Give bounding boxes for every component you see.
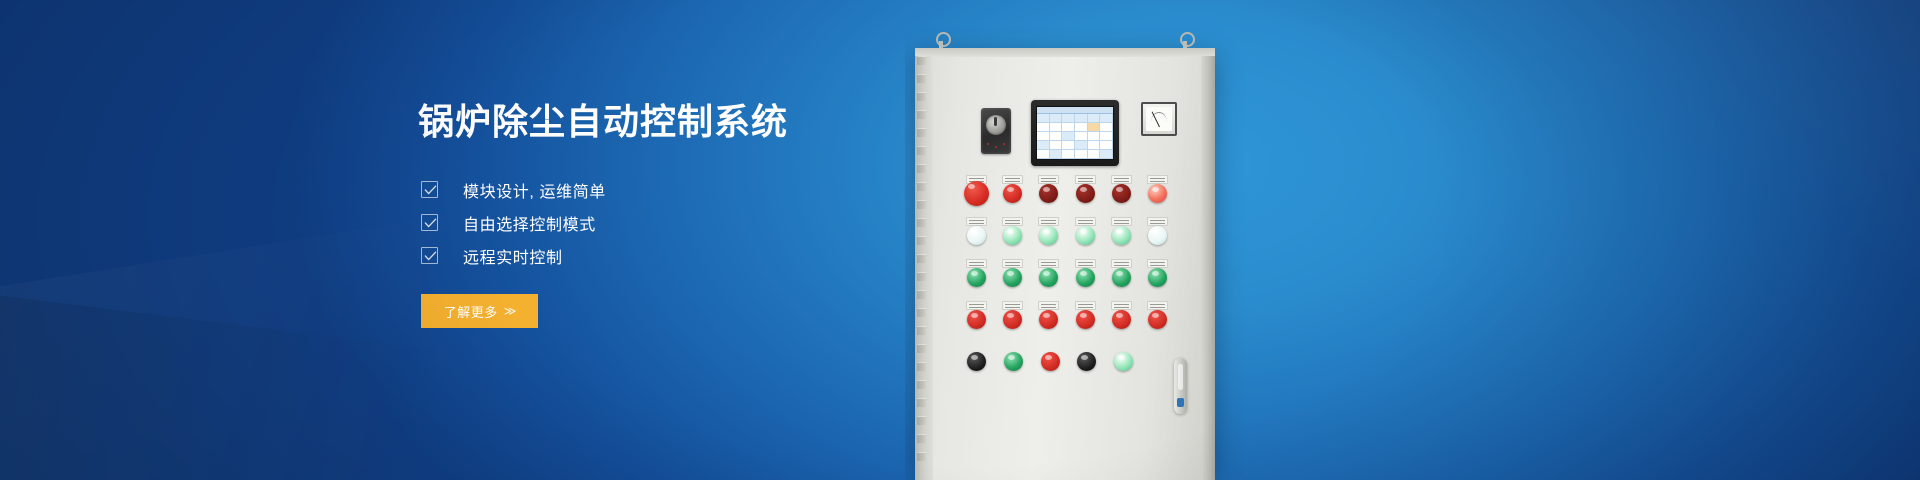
rotary-marker-dot [995, 146, 997, 148]
table-row [1037, 123, 1113, 132]
control-cabinet [915, 56, 1215, 480]
indicator-lamp[interactable] [1039, 268, 1058, 287]
control-cabinet-photo [905, 0, 1920, 480]
checkbox-icon [421, 214, 438, 231]
rotary-marker-dot [987, 143, 989, 145]
table-row [1037, 132, 1113, 141]
indicator-lamp[interactable] [967, 310, 986, 329]
meter-face [1146, 107, 1172, 131]
learn-more-label: 了解更多 [444, 302, 498, 321]
page-title: 锅炉除尘自动控制系统 [418, 100, 938, 143]
emergency-stop-button[interactable] [967, 184, 986, 203]
list-item-label: 远程实时控制 [463, 244, 563, 268]
cabinet-right-edge [1201, 56, 1215, 480]
indicator-lamp[interactable] [967, 268, 986, 287]
table-row [1037, 114, 1113, 123]
push-button[interactable] [1003, 184, 1022, 203]
hmi-title-bar [1037, 107, 1113, 114]
indicator-lamp[interactable] [1041, 352, 1060, 371]
indicator-lamp[interactable] [1003, 268, 1022, 287]
push-button[interactable] [1039, 184, 1058, 203]
indicator-lamp[interactable] [1076, 310, 1095, 329]
cabinet-left-edge [915, 56, 933, 480]
hero-banner: 锅炉除尘自动控制系统 模块设计, 运维简单 自由选择控制模式 [0, 0, 1920, 480]
indicator-lamp[interactable] [1076, 226, 1095, 245]
row-selector-bottom [967, 352, 1133, 371]
rotary-marker-dot [1003, 143, 1005, 145]
checkbox-icon [421, 247, 438, 264]
table-row [1037, 141, 1113, 150]
indicator-lamp[interactable] [1148, 310, 1167, 329]
chevron-double-right-icon: ≫ [504, 304, 516, 318]
cabinet-door-handle[interactable] [1174, 358, 1187, 414]
indicator-lamp[interactable] [967, 226, 986, 245]
banner-copy: 锅炉除尘自动控制系统 模块设计, 运维简单 自由选择控制模式 [418, 100, 938, 328]
hmi-screen[interactable] [1036, 106, 1114, 160]
indicator-lamp[interactable] [1148, 226, 1167, 245]
indicator-lamp[interactable] [1004, 352, 1023, 371]
checkbox-icon [421, 181, 438, 198]
table-row [1037, 150, 1113, 159]
indicator-lamp[interactable] [1112, 226, 1131, 245]
push-button-grid [967, 184, 1167, 394]
selector-switch[interactable] [967, 352, 986, 371]
push-button[interactable] [1112, 184, 1131, 203]
indicator-lamp[interactable] [1039, 310, 1058, 329]
hmi-touchscreen[interactable] [1031, 100, 1119, 166]
selector-switch[interactable] [1077, 352, 1096, 371]
rotary-dial[interactable] [986, 115, 1006, 135]
push-button[interactable] [1148, 184, 1167, 203]
row-indicator-green [967, 268, 1167, 287]
indicator-lamp[interactable] [1148, 268, 1167, 287]
hmi-data-table [1037, 114, 1113, 159]
indicator-lamp[interactable] [1114, 352, 1133, 371]
analog-panel-meter [1141, 102, 1177, 136]
push-button[interactable] [1076, 184, 1095, 203]
list-item: 模块设计, 运维简单 [418, 173, 938, 206]
row-emergency-stop [967, 184, 1167, 203]
cabinet-hinge-strip [917, 56, 926, 480]
cabinet-panel-face [933, 56, 1201, 480]
indicator-lamp[interactable] [1112, 268, 1131, 287]
list-item-label: 自由选择控制模式 [463, 211, 596, 235]
indicator-lamp[interactable] [1112, 310, 1131, 329]
list-item: 远程实时控制 [418, 239, 938, 272]
indicator-lamp[interactable] [1039, 226, 1058, 245]
indicator-lamp[interactable] [1076, 268, 1095, 287]
row-indicator-red [967, 310, 1167, 329]
list-item: 自由选择控制模式 [418, 206, 938, 239]
list-item-label: 模块设计, 运维简单 [463, 178, 606, 202]
indicator-lamp[interactable] [1003, 310, 1022, 329]
rotary-selector-switch[interactable] [981, 108, 1011, 154]
learn-more-button[interactable]: 了解更多 ≫ [421, 294, 538, 328]
indicator-lamp[interactable] [1003, 226, 1022, 245]
feature-list: 模块设计, 运维简单 自由选择控制模式 远程实时控制 [418, 173, 938, 272]
row-indicator-white [967, 226, 1167, 245]
